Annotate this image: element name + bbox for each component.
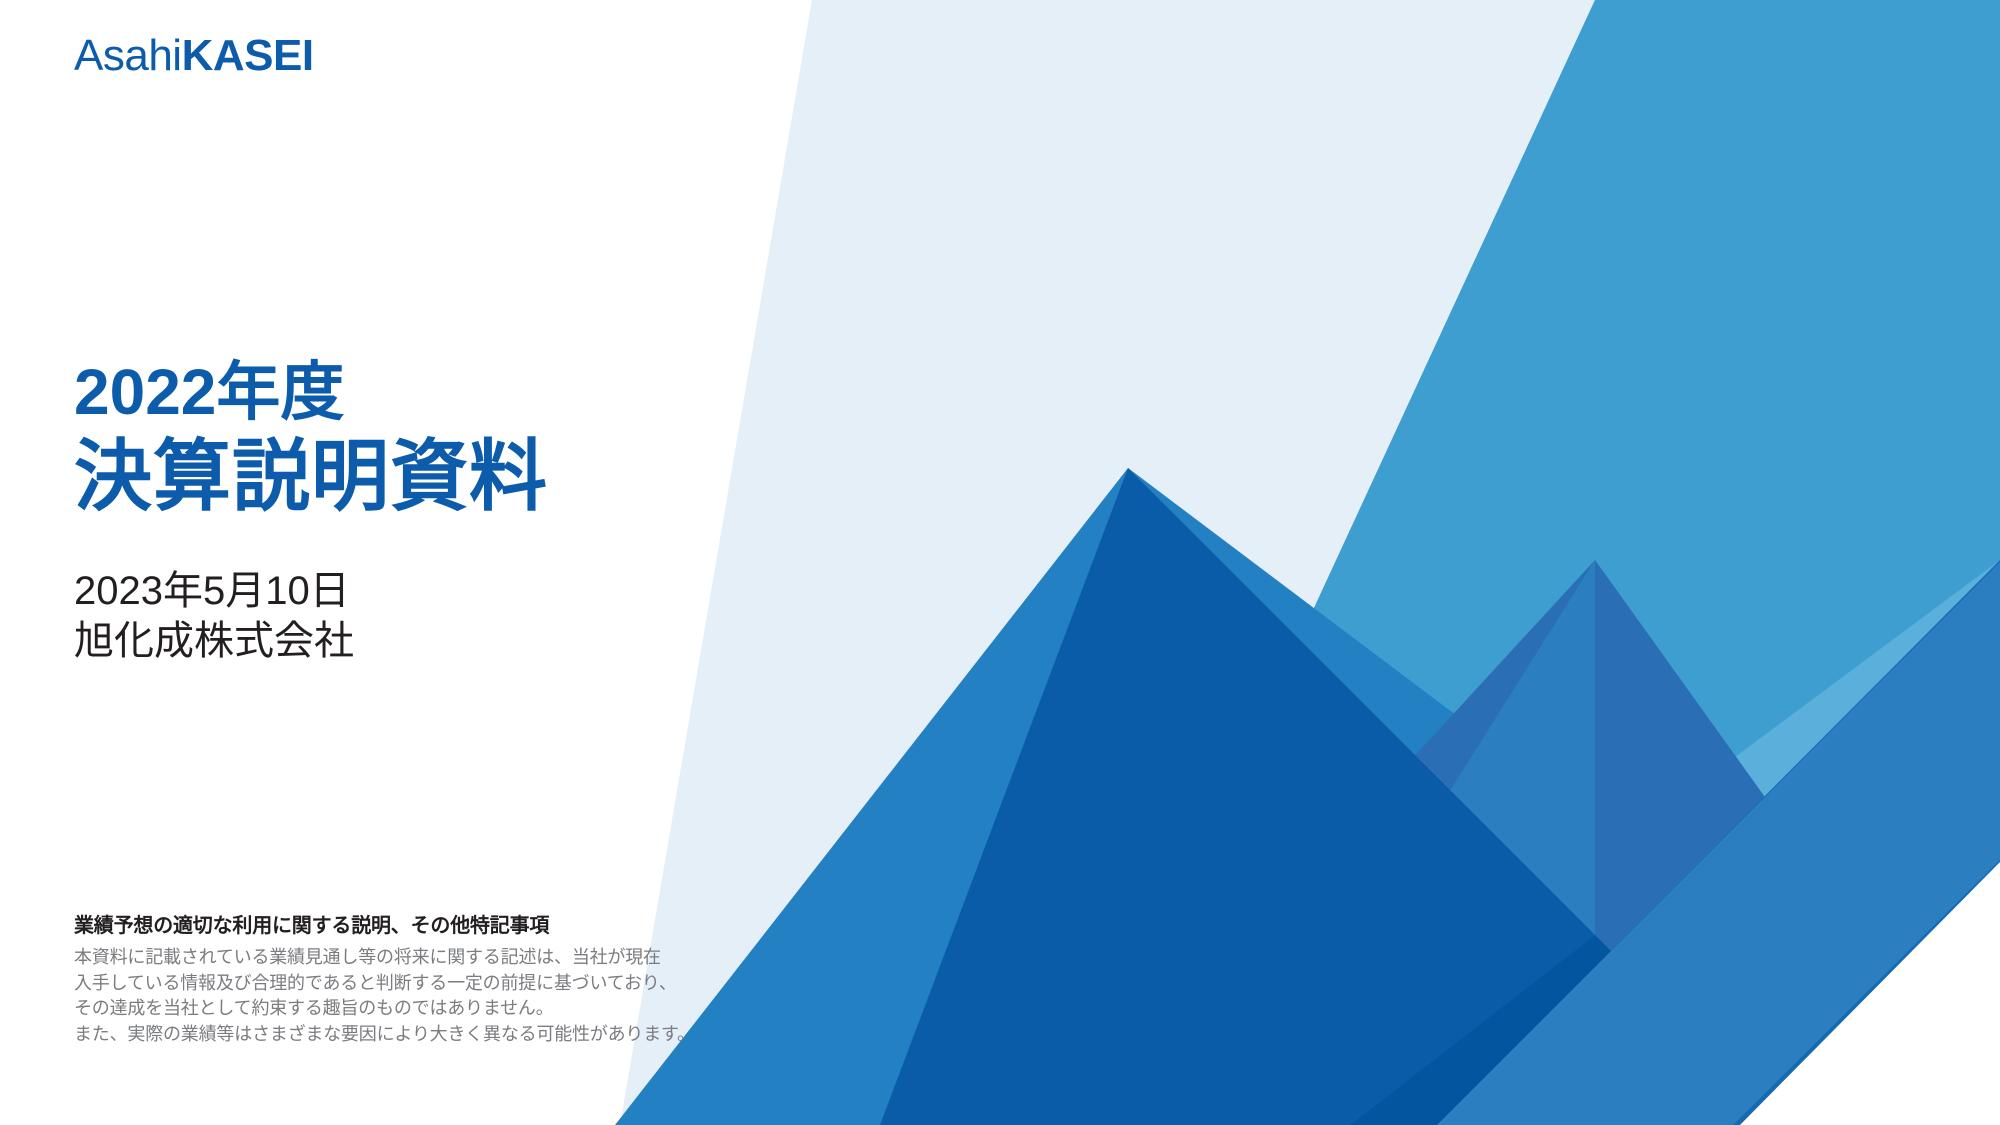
logo-text-kasei: KASEI (182, 31, 314, 80)
disclaimer-line: 本資料に記載されている業績見通し等の将来に関する記述は、当社が現在 (74, 945, 714, 971)
band-medium (615, 468, 2000, 1125)
band-mid-light (1075, 0, 2000, 1125)
band-pale (620, 0, 2000, 1125)
presentation-date: 2023年5月10日 (74, 566, 774, 616)
band-light (1075, 0, 2000, 1125)
title-line-document-type: 決算説明資料 (74, 431, 774, 521)
disclaimer-line: 入手している情報及び合理的であると判断する一定の前提に基づいており、 (74, 971, 714, 997)
disclaimer-line: また、実際の業績等はさまざまな要因により大きく異なる可能性があります。 (74, 1022, 714, 1048)
disclaimer-line: その達成を当社として約束する趣旨のものではありません。 (74, 996, 714, 1022)
band-overlap-deep (1075, 468, 1595, 1125)
company-name: 旭化成株式会社 (74, 616, 774, 666)
disclaimer-heading: 業績予想の適切な利用に関する説明、その他特記事項 (74, 913, 714, 940)
band-steel (1075, 560, 2000, 1125)
corner-notch-white (1740, 862, 2000, 1125)
band-deep (1437, 560, 2000, 1125)
page-title: 2022年度 決算説明資料 (74, 355, 774, 522)
asahi-kasei-logo: AsahiKASEI (74, 34, 314, 78)
band-dark (880, 468, 1595, 1125)
presentation-slide: AsahiKASEI 2022年度 決算説明資料 2023年5月10日 旭化成株… (0, 0, 2000, 1125)
title-line-fiscal-year: 2022年度 (74, 355, 774, 429)
band-darkest (1350, 935, 1700, 1125)
disclaimer-block: 業績予想の適切な利用に関する説明、その他特記事項 本資料に記載されている業績見通… (74, 913, 714, 1047)
band-right-medium (1437, 562, 2000, 1125)
subtitle: 2023年5月10日 旭化成株式会社 (74, 566, 774, 666)
logo-text-asahi: Asahi (74, 31, 182, 80)
